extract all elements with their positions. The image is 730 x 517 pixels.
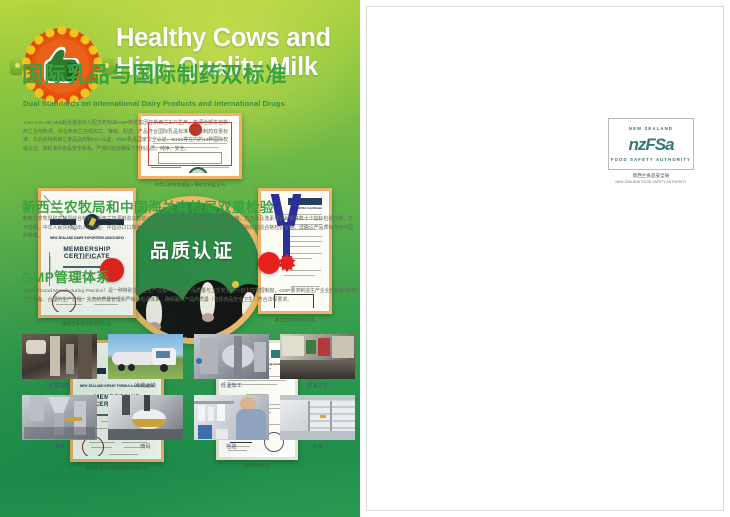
section1-title-cn: 国际乳品与国际制药双标准 (22, 58, 287, 89)
nzfsa-caption-en: NEW ZEALAND FOOD SAFETY AUTHORITY (602, 180, 700, 184)
section3-body: “GMP”（Good Manufacturing Practice）是一种特别注… (23, 288, 359, 305)
cow-eartag-right (232, 281, 239, 288)
cert-caption: 中华人民共和国出入境检验检疫证书 (138, 182, 242, 188)
nzfsa-arc-top: NEW ZEALAND (609, 126, 693, 131)
cert-caption: 自由销售认证 (216, 463, 298, 469)
right-content-panel (360, 0, 730, 517)
photo-caption: 冷链运输 (108, 382, 183, 389)
photo-caption: 检验 (194, 443, 269, 450)
photo-cell-filling: 灌装 (22, 395, 97, 450)
photo-cold-transport (108, 334, 183, 379)
photo-row-1: 无菌采奶 冷链运输 (22, 334, 358, 389)
photo-cell-warehouse: 仓储 (280, 395, 355, 450)
photo-milking (22, 334, 97, 379)
photo-warehouse (280, 395, 355, 440)
cert-title: NZFSA Certificate (297, 206, 322, 210)
cert-caption: 新西兰乳品协会会员认证 (38, 321, 136, 327)
photo-cell-inspection: 检验 (194, 395, 269, 450)
nzfsa-logo: NEW ZEALAND nzFSa FOOD SAFETY AUTHORITY … (602, 118, 700, 184)
photo-filling (22, 395, 97, 440)
photo-caption: 低温加工 (194, 382, 269, 389)
photo-coding (108, 395, 183, 440)
section1-body: Yum Yum NZ Milk超合金婴幼儿配方奶粉由GMP制药集团在新西兰工厂生… (23, 120, 228, 154)
photo-dry-process (280, 334, 355, 379)
photo-caption: 仓储 (280, 443, 355, 450)
cert-caption: 新西兰婴幼儿配方奶粉协会认证 (70, 465, 164, 471)
brochure-page: Healthy Cows and High Quality Milk 品质认证 (0, 0, 730, 517)
nzfsa-logo-box: NEW ZEALAND nzFSa FOOD SAFETY AUTHORITY (608, 118, 694, 170)
cow-muzzle-left (148, 322, 161, 332)
photo-caption: 湿混工艺 (280, 382, 355, 389)
red-seal-dot-right (258, 252, 280, 274)
photo-caption: 灌装 (22, 443, 97, 450)
nzfsa-caption-cn: 新西兰食品安全局 (602, 173, 700, 179)
photo-grid: 无菌采奶 冷链运输 (22, 334, 358, 456)
nzfsa-wordmark: nzFSa (609, 135, 693, 154)
photo-low-temp-processing (194, 334, 269, 379)
photo-row-2: 灌装 喷码 (22, 395, 358, 450)
section3-title-cn: GMP管理体系 (22, 266, 110, 286)
photo-cell-milking: 无菌采奶 (22, 334, 97, 389)
section1-title-en: Dual Standards on International Dairy Pr… (23, 99, 285, 108)
photo-caption: 喷码 (108, 443, 183, 450)
nzfsa-arc-bottom: FOOD SAFETY AUTHORITY (609, 157, 693, 162)
quality-seal-label: 品质认证 (124, 236, 260, 263)
photo-cell-dry-process: 湿混工艺 (280, 334, 355, 389)
photo-caption: 无菌采奶 (22, 382, 97, 389)
cert-caption: 新西兰出口检验认证 (258, 317, 332, 323)
photo-cell-low-temp: 低温加工 (194, 334, 269, 389)
photo-cell-coding: 喷码 (108, 395, 183, 450)
cert-title: MEMBERSHIP CERTIFICATE (44, 246, 130, 260)
photo-inspection (194, 395, 269, 440)
section2-title-cn: 新西兰农牧局和中国海关商检局双重检验 (22, 196, 274, 216)
cow-muzzle-middle (202, 313, 214, 322)
headline-line-1: Healthy Cows and (116, 24, 356, 53)
photo-cell-cold-transport: 冷链运输 (108, 334, 183, 389)
